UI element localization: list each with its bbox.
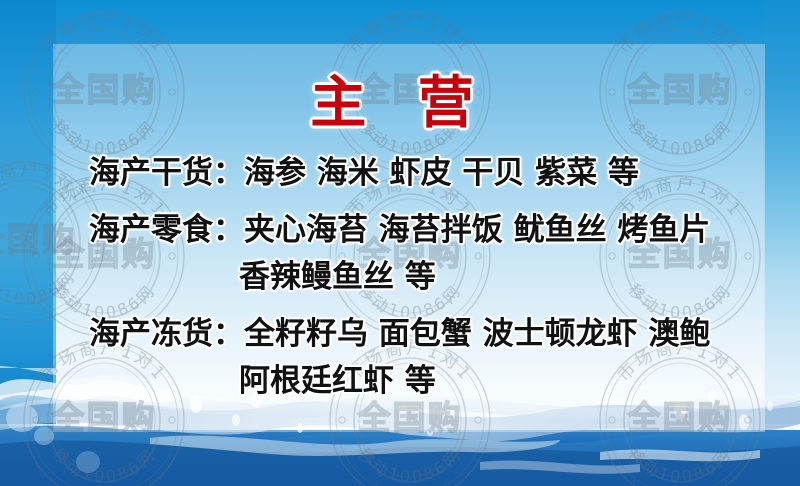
- list-item: 香辣鳗鱼丝 等: [53, 254, 765, 301]
- list-item: 阿根廷红虾 等: [53, 358, 765, 405]
- list-item: 海产零食：夹心海苔 海苔拌饭 鱿鱼丝 烤鱼片: [53, 207, 765, 254]
- product-list: 海产干货：海参 海米 虾皮 干贝 紫菜 等 海产零食：夹心海苔 海苔拌饭 鱿鱼丝…: [53, 150, 765, 405]
- list-item: 海产干货：海参 海米 虾皮 干贝 紫菜 等: [53, 150, 765, 197]
- page-title: 主 营: [0, 58, 800, 139]
- list-item: 海产冻货：全籽籽乌 面包蟹 波士顿龙虾 澳鲍: [53, 311, 765, 358]
- seafood-product-banner: 市场商户1对1 移动10086网 全国购 主 营 海产干货：海参 海米 虾皮 干…: [0, 0, 800, 486]
